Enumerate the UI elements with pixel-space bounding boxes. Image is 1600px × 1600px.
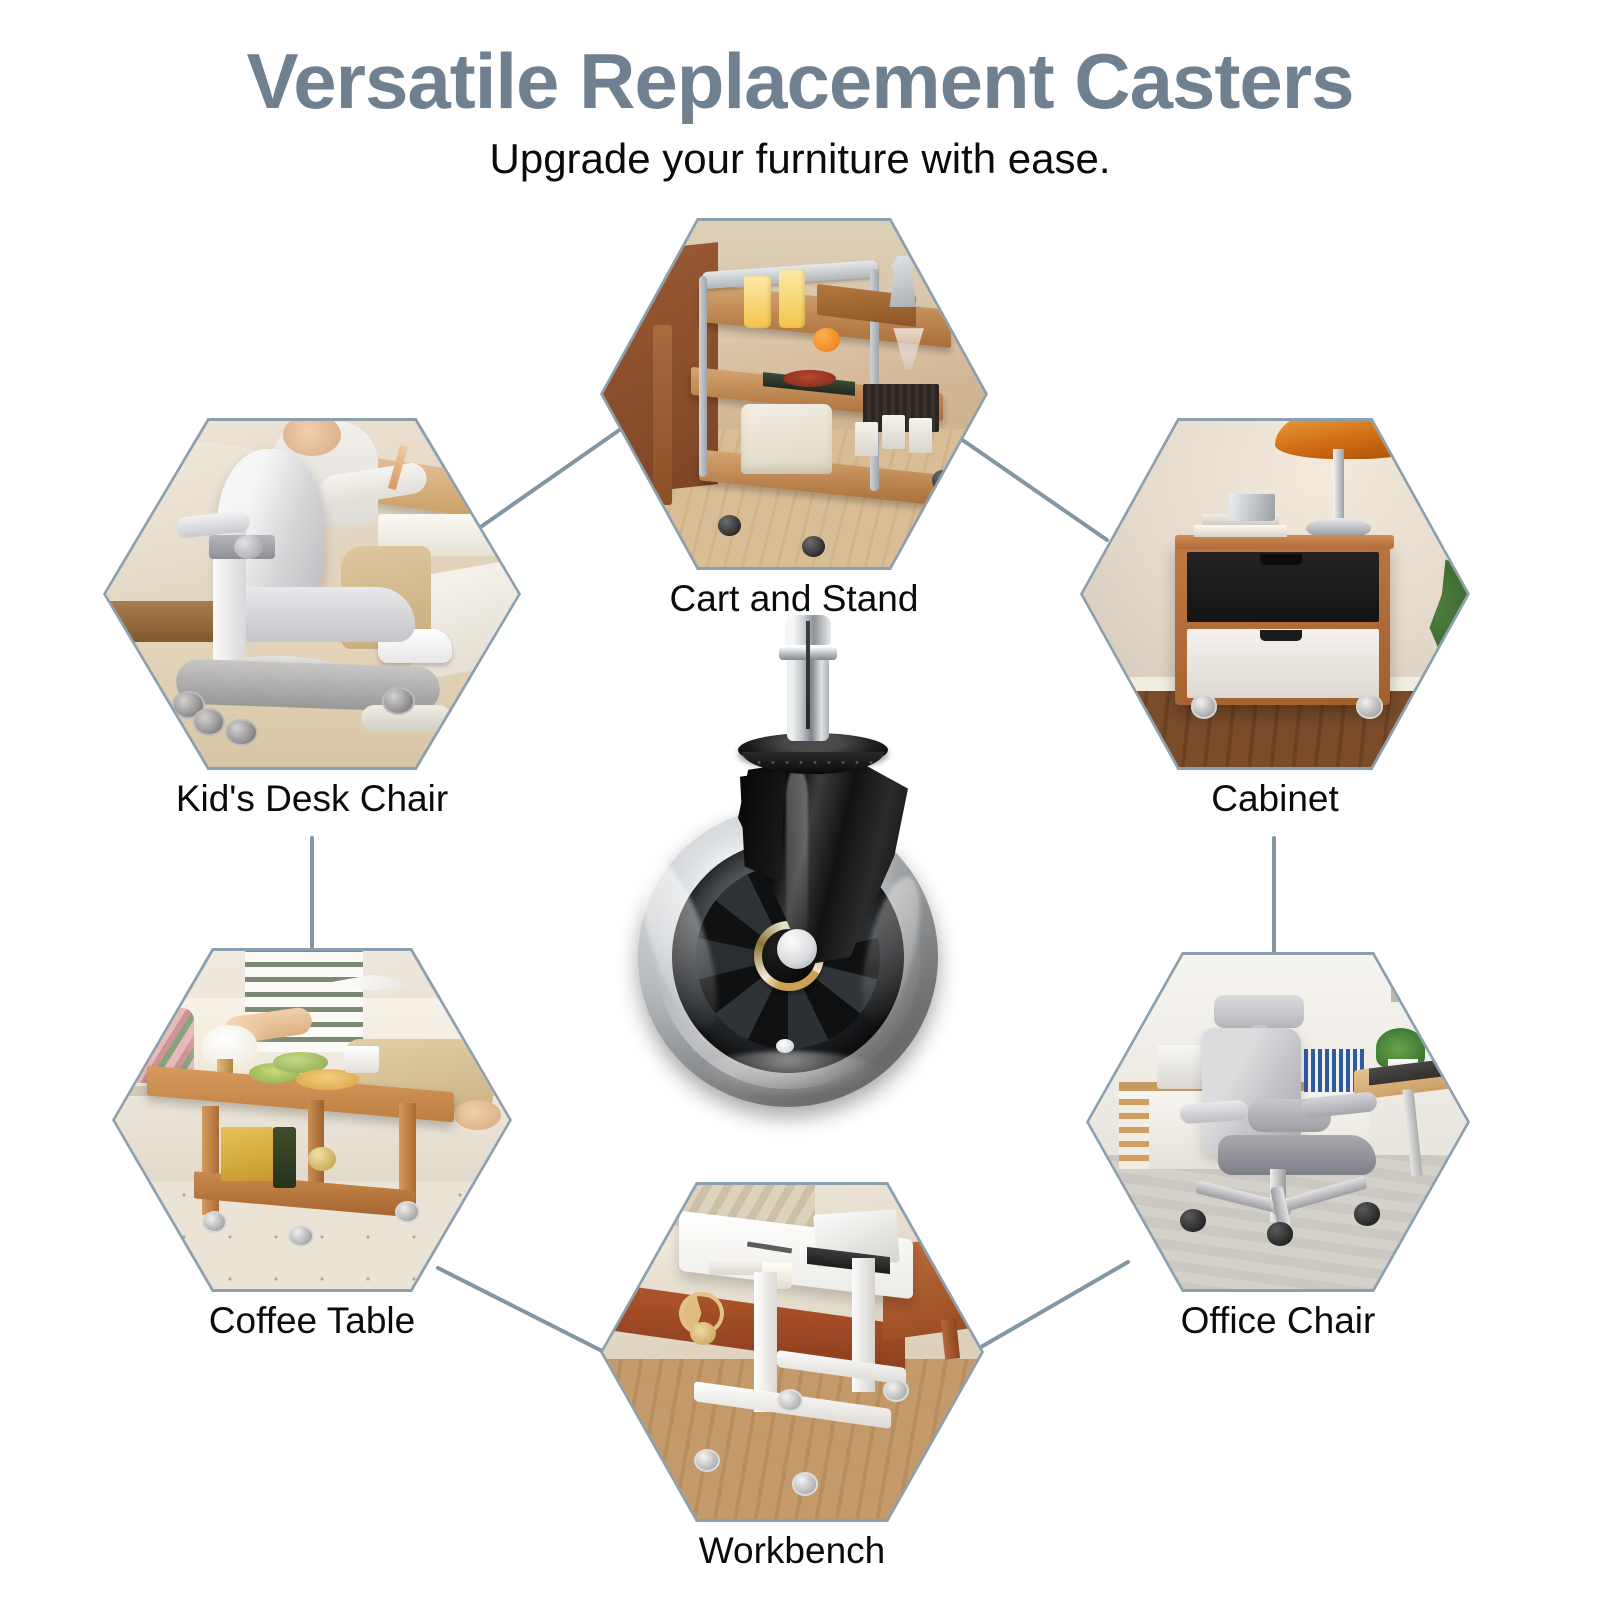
hex-image-kids-desk-chair: [106, 421, 518, 767]
node-cart-and-stand[interactable]: Cart and Stand: [600, 218, 988, 570]
caster-fork-rear-leg: [740, 770, 786, 882]
hex-image-office-chair: [1089, 955, 1467, 1289]
chrome-stem-seam: [806, 621, 810, 729]
label-cart-and-stand: Cart and Stand: [534, 578, 1054, 620]
wheel-gloss-bottom: [694, 1051, 884, 1099]
wheel-lower-highlight: [776, 1039, 794, 1053]
node-kids-desk-chair[interactable]: Kid's Desk Chair: [103, 418, 521, 770]
swivel-plate-ball-race: [752, 758, 874, 767]
axle-cap: [777, 929, 817, 969]
product-caster-wheel: [610, 615, 990, 1115]
node-workbench[interactable]: Workbench: [600, 1182, 984, 1522]
hex-image-cart-and-stand: [603, 221, 985, 567]
caster-fork-highlight: [786, 767, 808, 947]
node-cabinet[interactable]: Cabinet: [1080, 418, 1470, 770]
label-office-chair: Office Chair: [1018, 1300, 1538, 1342]
label-coffee-table: Coffee Table: [52, 1300, 572, 1342]
node-coffee-table[interactable]: Coffee Table: [112, 948, 512, 1292]
label-workbench: Workbench: [532, 1530, 1052, 1572]
node-office-chair[interactable]: Office Chair: [1086, 952, 1470, 1292]
hex-image-workbench: [603, 1185, 981, 1519]
hex-image-coffee-table: [115, 951, 509, 1289]
hex-image-cabinet: [1083, 421, 1467, 767]
label-cabinet: Cabinet: [1015, 778, 1535, 820]
label-kids-desk-chair: Kid's Desk Chair: [52, 778, 572, 820]
